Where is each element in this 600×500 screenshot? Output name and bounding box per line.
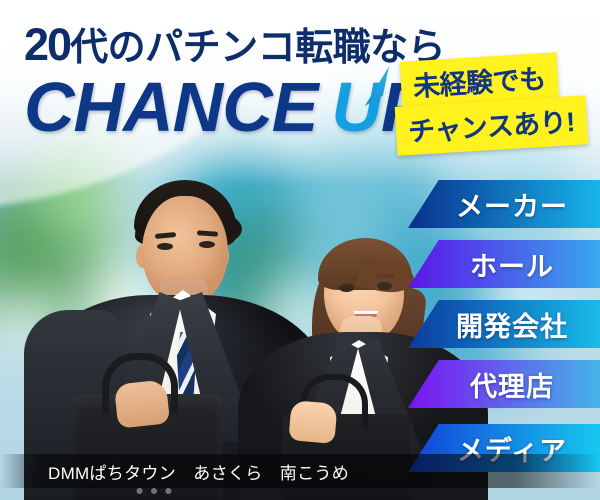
woman-eye-right — [377, 282, 392, 290]
logo-chance-text: CHANCE — [24, 68, 317, 146]
credit-text: DMMぱちタウン あさくら 南こうめ — [0, 459, 349, 484]
man-eye-left — [157, 243, 173, 250]
man-hand — [114, 379, 170, 428]
credit-bar: DMMぱちタウン あさくら 南こうめ — [0, 454, 600, 488]
headline-number: 20 — [24, 19, 70, 70]
menu-item-maker-label: メーカー — [440, 185, 568, 224]
menu-item-agency[interactable]: 代理店 — [408, 360, 600, 408]
woman-eye-left — [339, 284, 354, 292]
logo-u-glyph: U — [331, 68, 381, 146]
menu-item-hall-label: ホール — [454, 245, 554, 284]
logo-u-letter: U — [331, 72, 381, 142]
menu-item-agency-label: 代理店 — [454, 365, 554, 404]
menu-item-maker[interactable]: メーカー — [408, 180, 600, 228]
advertisement-banner[interactable]: 20代のパチンコ転職なら CHANCEUP 未経験でも チャンスあり! メーカー… — [0, 0, 600, 500]
menu-item-development-company[interactable]: 開発会社 — [408, 300, 600, 348]
man-eye-right — [199, 241, 215, 248]
woman-hand — [288, 400, 337, 444]
headline: 20代のパチンコ転職なら — [24, 16, 445, 71]
menu-item-hall[interactable]: ホール — [408, 240, 600, 288]
headline-rest: 代のパチンコ転職なら — [70, 27, 445, 69]
woman-hair-front — [318, 238, 412, 290]
menu-item-development-company-label: 開発会社 — [440, 305, 568, 344]
chance-up-logo: CHANCEUP — [24, 72, 427, 142]
